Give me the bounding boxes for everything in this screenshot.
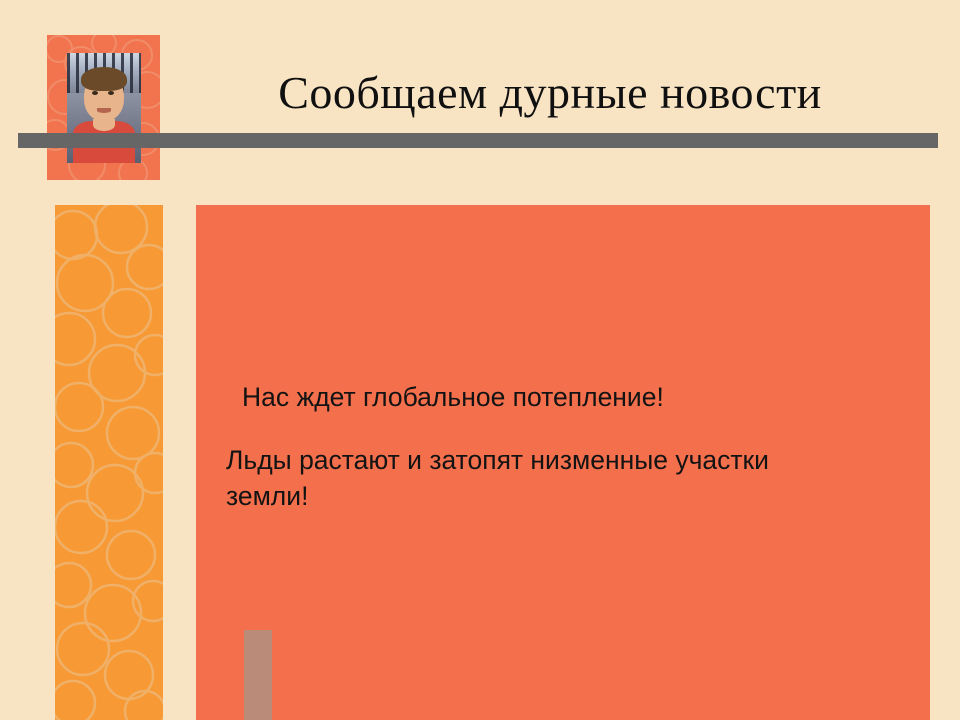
body-line-1: Нас ждет глобальное потепление!	[242, 380, 664, 416]
title-divider-rule	[18, 133, 938, 148]
slide-canvas: Сообщаем дурные новости	[0, 0, 960, 720]
slide-title: Сообщаем дурные новости	[180, 68, 920, 119]
photo-hair	[81, 67, 127, 91]
photo-eye-left	[92, 91, 98, 95]
photo-frame	[47, 35, 160, 180]
body-line-2: Льды растают и затопят низменные участки…	[226, 443, 826, 515]
photo-eye-right	[108, 91, 114, 95]
decorative-side-panel	[55, 205, 163, 720]
content-box: Нас ждет глобальное потепление! Льды рас…	[196, 205, 930, 720]
placeholder-shape	[244, 630, 272, 720]
swirl-pattern-icon	[55, 205, 163, 720]
photo-mouth	[97, 108, 111, 113]
